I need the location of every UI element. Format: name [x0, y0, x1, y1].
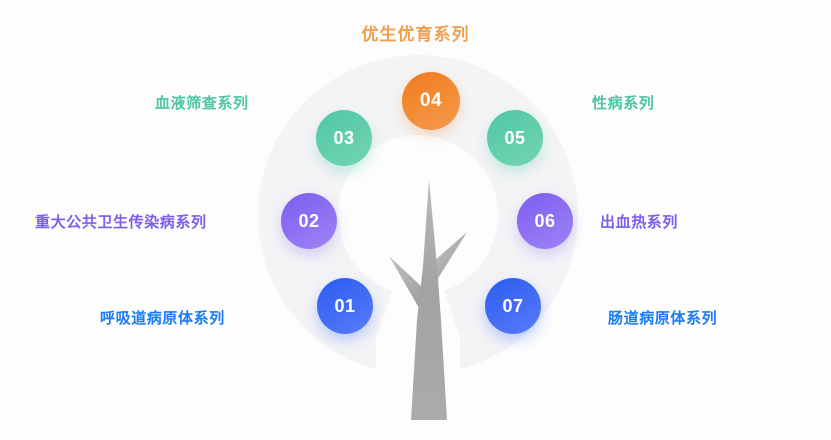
- node-01[interactable]: 01: [317, 278, 373, 334]
- infographic-canvas: 优生优育系列 04 03 05 02 06 01 07: [0, 0, 831, 440]
- label-node-01[interactable]: 呼吸道病原体系列: [100, 307, 225, 328]
- node-07[interactable]: 07: [485, 278, 541, 334]
- node-06[interactable]: 06: [517, 193, 573, 249]
- node-05[interactable]: 05: [487, 110, 543, 166]
- label-node-05[interactable]: 性病系列: [592, 92, 654, 113]
- label-node-03[interactable]: 血液筛查系列: [155, 92, 249, 113]
- label-node-06[interactable]: 出血热系列: [600, 211, 678, 232]
- label-node-07[interactable]: 肠道病原体系列: [608, 307, 717, 328]
- page-title: 优生优育系列: [0, 20, 831, 45]
- node-04[interactable]: 04: [402, 72, 460, 130]
- tree-icon: [371, 170, 491, 432]
- label-node-02[interactable]: 重大公共卫生传染病系列: [35, 211, 207, 232]
- node-02[interactable]: 02: [281, 193, 337, 249]
- node-03[interactable]: 03: [316, 110, 372, 166]
